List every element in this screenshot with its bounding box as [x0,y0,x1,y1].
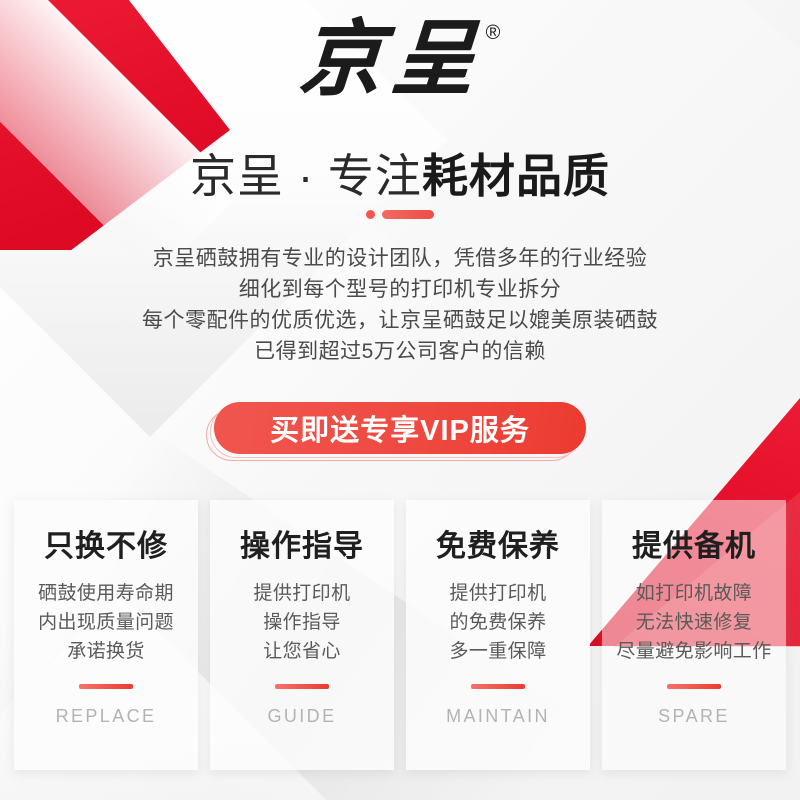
registered-trademark-icon: ® [486,22,501,45]
brand-logo: 京呈 ® [0,18,800,100]
feature-card-list: 只换不修 硒鼓使用寿命期 内出现质量问题 承诺换货 REPLACE 操作指导 提… [14,500,786,770]
tagline-light-part: 京呈 · 专注 [190,150,422,202]
feature-card-line: 内出现质量问题 [38,608,174,637]
feature-card-title: 只换不修 [44,530,168,563]
brand-tagline: 京呈 · 专注耗材品质 [0,140,800,206]
feature-card-line: 如打印机故障 [616,579,771,608]
promo-badge-wrapper: 买即送专享VIP服务 [0,402,800,454]
feature-card-line: 提供打印机 [449,579,546,608]
feature-card-line: 无法快速修复 [616,608,771,637]
feature-card-line: 硒鼓使用寿命期 [38,579,174,608]
tagline-bold-part: 耗材品质 [422,150,610,202]
feature-card-line: 操作指导 [253,608,350,637]
intro-line: 已得到超过5万公司客户的信赖 [0,336,800,367]
logo-wordmark: 京呈 [297,18,487,100]
intro-paragraph: 京呈硒鼓拥有专业的设计团队，凭借多年的行业经验 细化到每个型号的打印机专业拆分 … [0,243,800,367]
feature-card-english-label: SPARE [658,706,730,727]
feature-card-divider [471,684,525,689]
feature-card-spare[interactable]: 提供备机 如打印机故障 无法快速修复 尽量避免影响工作 SPARE [602,500,786,770]
feature-card-body: 硒鼓使用寿命期 内出现质量问题 承诺换货 [38,579,174,666]
feature-card-title: 提供备机 [632,530,756,563]
feature-card-line: 承诺换货 [38,637,174,666]
feature-card-english-label: GUIDE [267,706,336,727]
feature-card-maintain[interactable]: 免费保养 提供打印机 的免费保养 多一重保障 MAINTAIN [406,500,590,770]
feature-card-divider [667,684,721,689]
feature-card-title: 操作指导 [240,530,364,563]
intro-line: 每个零配件的优质优选，让京呈硒鼓足以媲美原装硒鼓 [0,305,800,336]
feature-card-body: 提供打印机 操作指导 让您省心 [253,579,350,666]
divider-dot-icon [366,210,375,219]
feature-card-line: 尽量避免影响工作 [616,637,771,666]
feature-card-line: 提供打印机 [253,579,350,608]
tagline-divider [0,210,800,219]
feature-card-line: 多一重保障 [449,637,546,666]
feature-card-divider [79,684,133,689]
divider-bar-icon [382,210,434,219]
intro-line: 细化到每个型号的打印机专业拆分 [0,274,800,305]
promo-badge[interactable]: 买即送专享VIP服务 [214,402,586,454]
feature-card-body: 提供打印机 的免费保养 多一重保障 [449,579,546,666]
feature-card-guide[interactable]: 操作指导 提供打印机 操作指导 让您省心 GUIDE [210,500,394,770]
feature-card-replace[interactable]: 只换不修 硒鼓使用寿命期 内出现质量问题 承诺换货 REPLACE [14,500,198,770]
intro-line: 京呈硒鼓拥有专业的设计团队，凭借多年的行业经验 [0,243,800,274]
feature-card-english-label: MAINTAIN [446,706,550,727]
feature-card-body: 如打印机故障 无法快速修复 尽量避免影响工作 [616,579,771,666]
promo-badge-pill[interactable]: 买即送专享VIP服务 [214,402,586,454]
feature-card-line: 的免费保养 [449,608,546,637]
feature-card-title: 免费保养 [436,530,560,563]
promo-badge-label: 买即送专享VIP服务 [270,407,530,449]
logo-mark: 京呈 ® [300,18,501,100]
brand-banner: 京呈 ® 京呈 · 专注耗材品质 京呈硒鼓拥有专业的设计团队，凭借多年的行业经验… [0,0,800,800]
feature-card-english-label: REPLACE [56,706,157,727]
feature-card-line: 让您省心 [253,637,350,666]
feature-card-divider [275,684,329,689]
